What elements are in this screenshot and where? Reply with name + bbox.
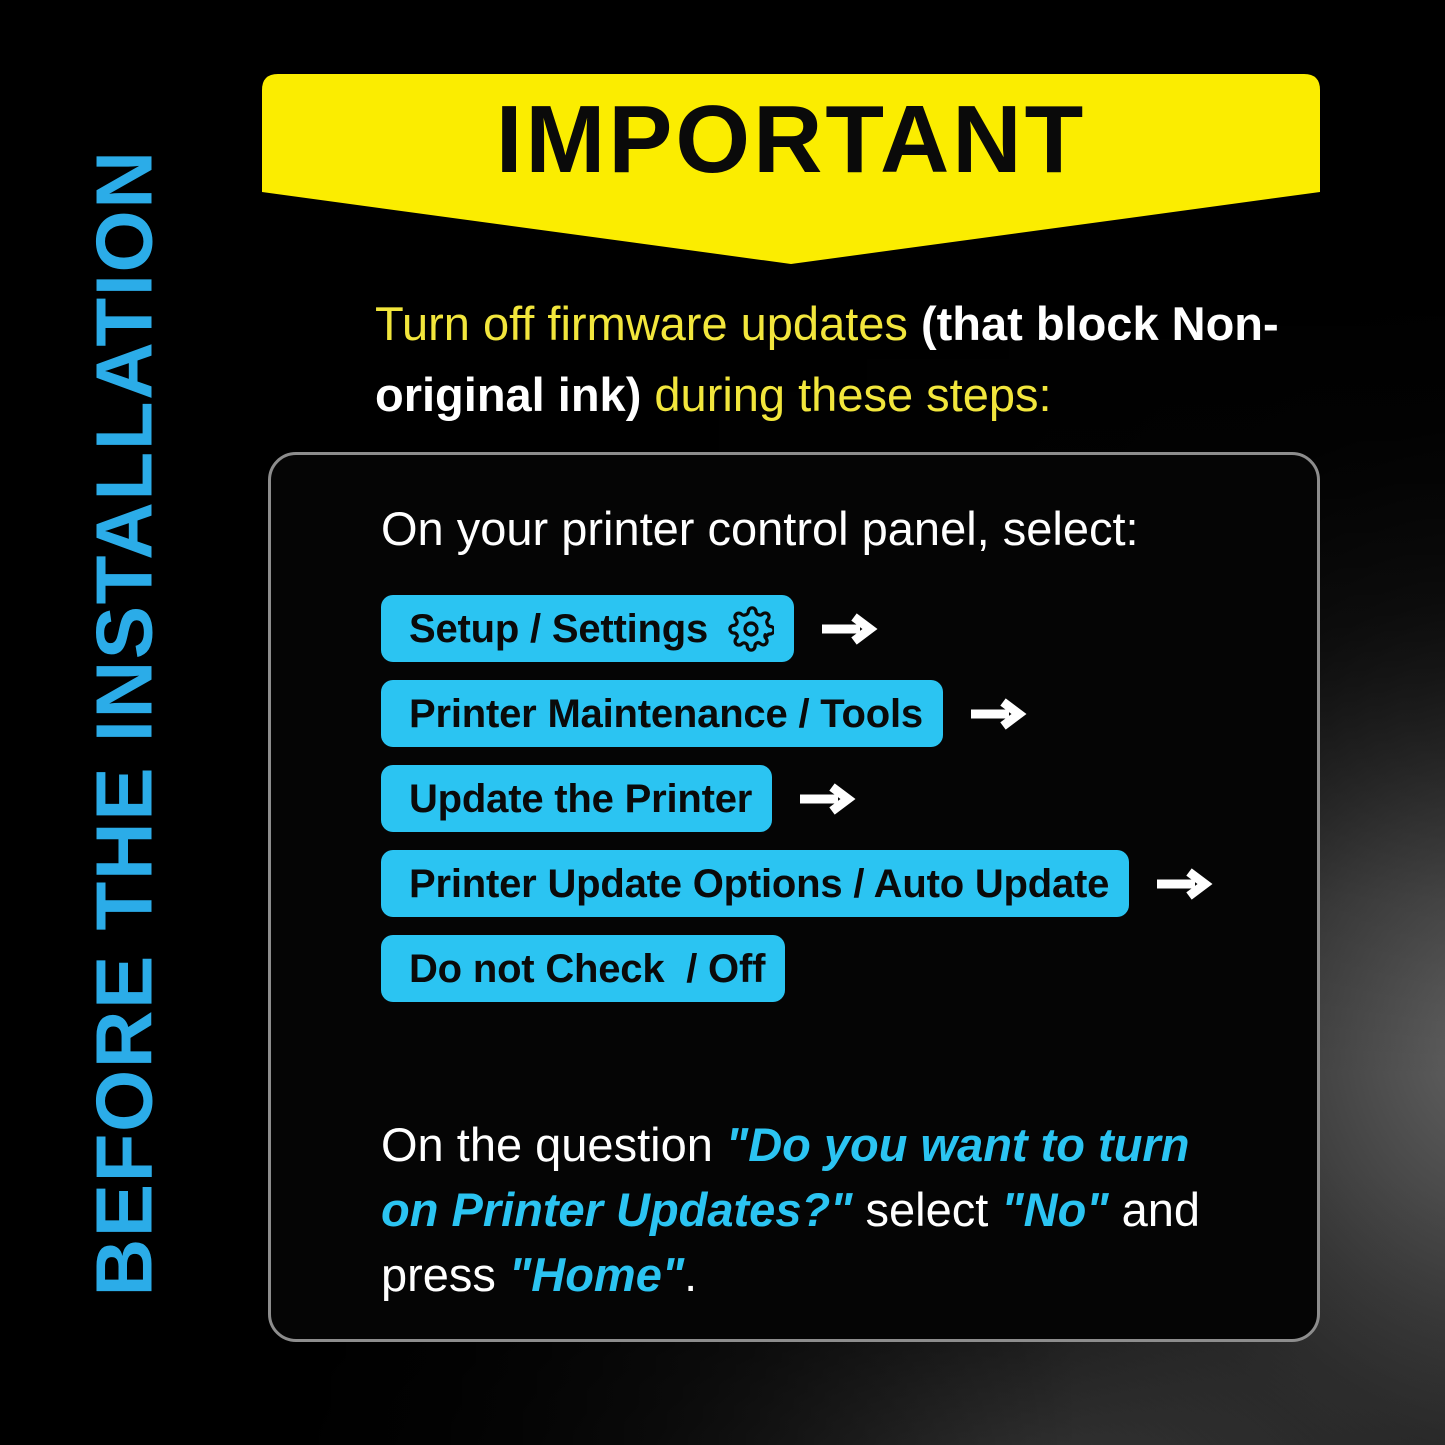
side-title: BEFORE THE INSTALLATION (0, 0, 250, 1445)
pill-update-the-printer[interactable]: Update the Printer (381, 765, 772, 832)
pill-label-update-the-printer: Update the Printer (409, 779, 752, 819)
pill-label-do-not-check-off: Do not Check / Off (409, 949, 765, 989)
pill-printer-maintenance-tools[interactable]: Printer Maintenance / Tools (381, 680, 943, 747)
banner-title: IMPORTANT (262, 74, 1320, 206)
pill-label-setup-settings: Setup / Settings (409, 609, 708, 649)
gear-icon (728, 606, 774, 652)
poster-root: BEFORE THE INSTALLATION IMPORTANT Turn o… (0, 0, 1445, 1445)
pill-do-not-check-off[interactable]: Do not Check / Off (381, 935, 785, 1002)
step-row-update-the-printer: Update the Printer (381, 765, 1281, 832)
arrow-right-icon (1155, 866, 1213, 902)
side-title-label: BEFORE THE INSTALLATION (85, 149, 165, 1296)
card-heading: On your printer control panel, select: (381, 503, 1139, 555)
arrow-right-icon (969, 696, 1027, 732)
pill-setup-settings[interactable]: Setup / Settings (381, 595, 794, 662)
step-row-setup-settings: Setup / Settings (381, 595, 1281, 662)
pill-label-printer-update-options: Printer Update Options / Auto Update (409, 864, 1109, 904)
instructions-card: On your printer control panel, select: S… (268, 452, 1320, 1342)
intro-text-part1: Turn off firmware updates (375, 297, 921, 350)
step-row-printer-update-options: Printer Update Options / Auto Update (381, 850, 1281, 917)
intro-text-part3: during these steps: (641, 368, 1051, 421)
pill-label-printer-maintenance-tools: Printer Maintenance / Tools (409, 694, 923, 734)
step-row-printer-maintenance-tools: Printer Maintenance / Tools (381, 680, 1281, 747)
closing-paragraph: On the question "Do you want to turn on … (381, 1113, 1251, 1308)
important-banner: IMPORTANT (262, 74, 1320, 264)
closing-seg3: select (852, 1183, 1001, 1236)
intro-paragraph: Turn off firmware updates (that block No… (375, 288, 1325, 431)
step-row-do-not-check-off: Do not Check / Off (381, 935, 1281, 1002)
pill-printer-update-options[interactable]: Printer Update Options / Auto Update (381, 850, 1129, 917)
step-list: Setup / Settings Pr (381, 595, 1281, 1020)
arrow-right-icon (798, 781, 856, 817)
closing-seg6-home: "Home" (509, 1248, 684, 1301)
closing-seg1: On the question (381, 1118, 726, 1171)
arrow-right-icon (820, 611, 878, 647)
closing-seg7: . (684, 1248, 697, 1301)
closing-seg4-no: "No" (1001, 1183, 1108, 1236)
